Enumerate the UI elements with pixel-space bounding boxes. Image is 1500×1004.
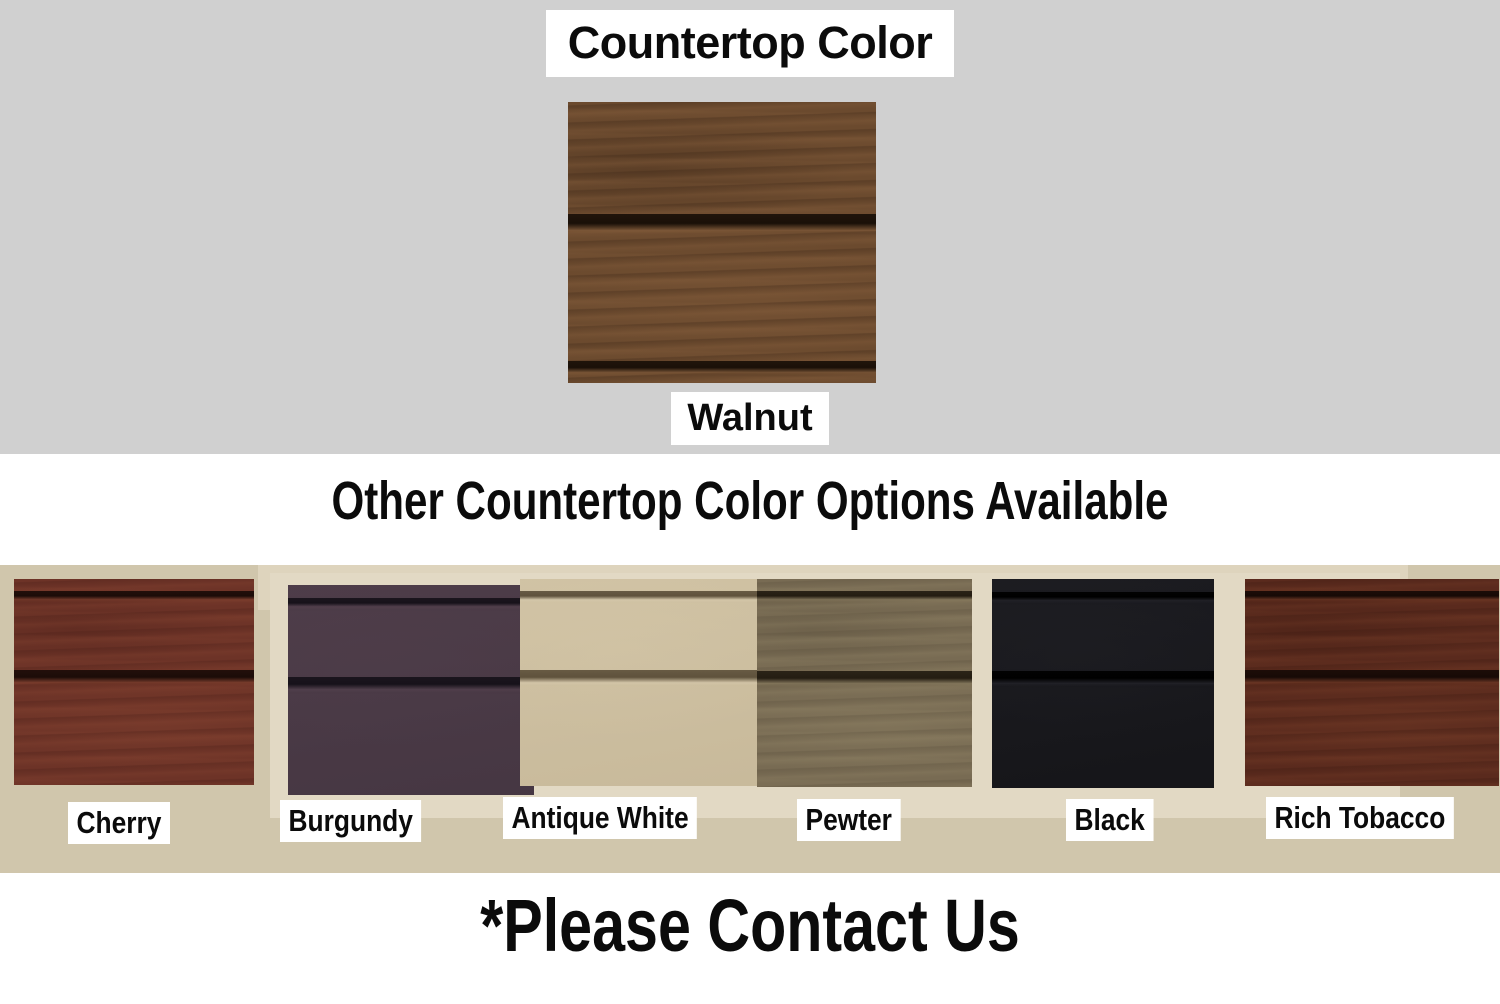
swatch-texture [288,585,534,795]
board-groove [757,671,972,684]
swatch-texture [14,579,254,785]
walnut-wood-texture [568,102,876,383]
board-groove [568,214,876,231]
board-groove [520,670,760,683]
swatch-texture [520,579,760,786]
board-groove [14,670,254,683]
page-title: Countertop Color [546,10,954,77]
hero-section: Countertop Color Walnut [0,0,1500,454]
footer-section: *Please Contact Us [0,873,1500,1004]
swatch-label-black: Black [1066,799,1153,841]
color-swatch-pewter[interactable] [757,579,972,787]
color-swatch-burgundy[interactable] [288,585,534,795]
board-groove [288,677,534,690]
other-options-heading: Other Countertop Color Options Available [165,474,1335,528]
color-swatch-rich-tobacco[interactable] [1245,579,1499,786]
board-groove [1245,591,1499,600]
page-title-container: Countertop Color [0,10,1500,77]
board-groove [992,592,1214,601]
color-swatch-antique-white[interactable] [520,579,760,786]
board-groove [992,671,1214,684]
other-options-band: Other Countertop Color Options Available [0,454,1500,565]
contact-note: *Please Contact Us [150,885,1350,966]
featured-swatch-label-container: Walnut [0,392,1500,445]
featured-swatch-label: Walnut [671,392,828,445]
color-options-strip: CherryBurgundyAntique WhitePewterBlackRi… [0,565,1500,873]
board-groove [288,598,534,607]
swatch-label-burgundy: Burgundy [280,800,421,842]
swatch-texture [757,579,972,787]
swatch-label-rich-tobacco: Rich Tobacco [1266,797,1454,839]
color-swatch-cherry[interactable] [14,579,254,785]
board-groove [568,361,876,373]
featured-color-swatch-walnut[interactable] [568,102,876,383]
swatch-label-pewter: Pewter [797,799,900,841]
color-swatch-black[interactable] [992,579,1214,788]
swatch-label-cherry: Cherry [68,802,170,844]
board-groove [520,591,760,600]
board-groove [757,591,972,600]
swatch-label-antique-white: Antique White [503,797,697,839]
swatch-texture [1245,579,1499,786]
board-groove [14,591,254,600]
board-groove [1245,670,1499,683]
swatch-texture [992,579,1214,788]
